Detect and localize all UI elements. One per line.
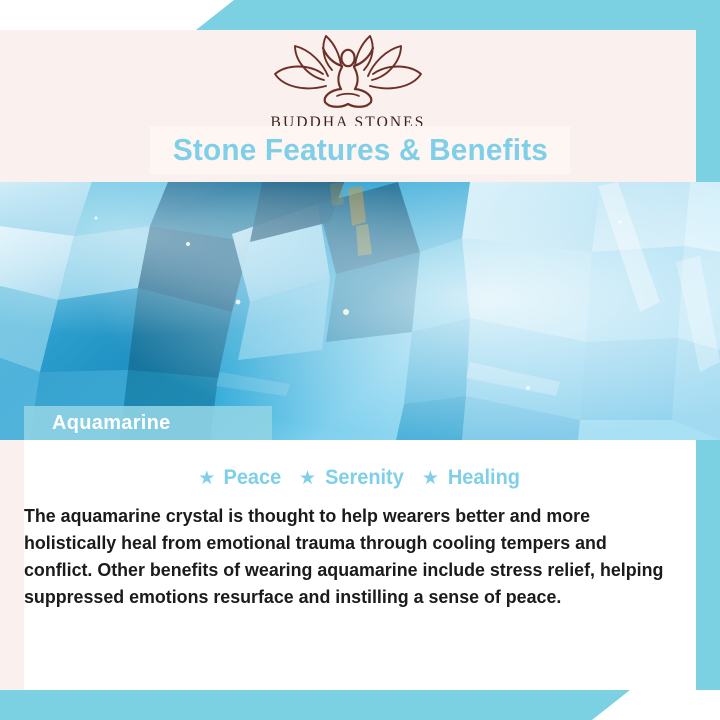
star-icon: ★ (422, 469, 439, 488)
decorative-band-bottom (0, 690, 630, 720)
benefit-label: Healing (448, 466, 520, 490)
aquamarine-crystal-photo (0, 182, 720, 440)
stone-name-label: Aquamarine (52, 412, 171, 435)
benefits-row: ★ Peace ★ Serenity ★ Healing (24, 462, 696, 494)
page-title-banner: Stone Features & Benefits (150, 126, 570, 174)
benefit-item-healing: ★ Healing (422, 466, 522, 490)
stone-name-tag: Aquamarine (24, 406, 272, 440)
star-icon: ★ (198, 469, 215, 488)
decorative-band-top (196, 0, 720, 30)
lotus-meditation-icon (263, 34, 433, 112)
benefit-label: Peace (224, 466, 282, 490)
benefit-item-peace: ★ Peace (198, 466, 283, 490)
benefit-item-serenity: ★ Serenity (299, 466, 406, 490)
description-text: The aquamarine crystal is thought to hel… (24, 502, 680, 610)
stone-features-poster: BUDDHA STONES Stone Features & Benefits (0, 0, 720, 720)
star-icon: ★ (299, 469, 316, 488)
page-title: Stone Features & Benefits (172, 132, 547, 168)
benefit-label: Serenity (325, 466, 404, 490)
